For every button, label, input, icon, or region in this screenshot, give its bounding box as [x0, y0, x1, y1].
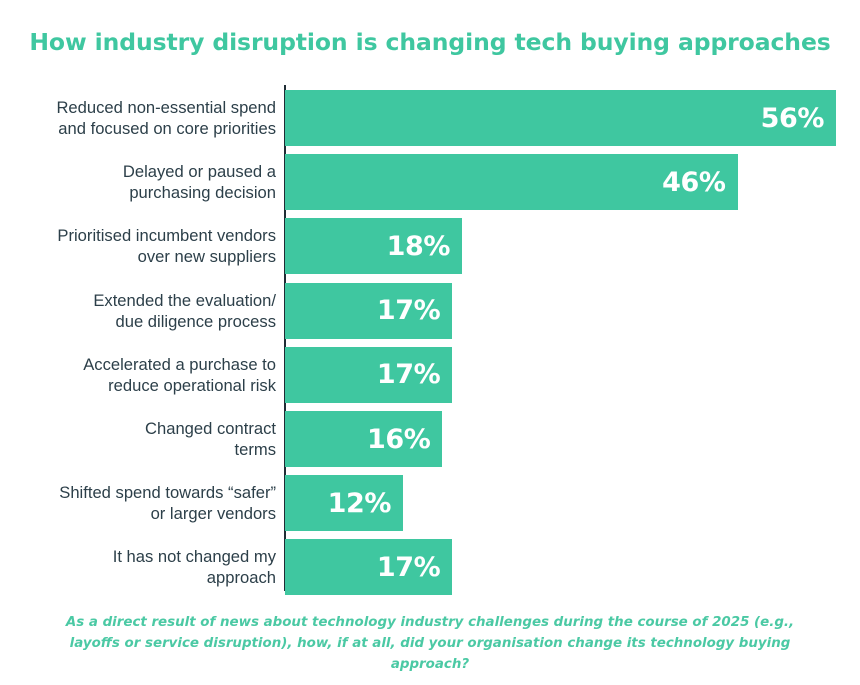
bar-track: 17%	[285, 283, 452, 339]
chart-annotation: As a direct result of news about technol…	[50, 612, 810, 675]
chart-figure: How industry disruption is changing tech…	[0, 0, 860, 685]
bar-track: 12%	[285, 475, 403, 531]
category-label: Changed contract terms	[18, 411, 276, 467]
category-label: It has not changed my approach	[18, 539, 276, 595]
bar-row: Delayed or paused a purchasing decision4…	[0, 154, 860, 210]
bar-track: 46%	[285, 154, 738, 210]
bar-row: Shifted spend towards “safer” or larger …	[0, 475, 860, 531]
bar-track: 56%	[285, 90, 836, 146]
chart-title: How industry disruption is changing tech…	[0, 28, 860, 56]
bar-value-label: 46%	[662, 154, 725, 210]
bar-track: 17%	[285, 539, 452, 595]
bar-track: 18%	[285, 218, 462, 274]
bar-value-label: 18%	[387, 218, 450, 274]
bar-value-label: 56%	[761, 90, 824, 146]
bar-track: 17%	[285, 347, 452, 403]
bar-value-label: 17%	[377, 539, 440, 595]
bar-row: It has not changed my approach17%	[0, 539, 860, 595]
bar-row: Reduced non-essential spend and focused …	[0, 90, 860, 146]
category-label: Reduced non-essential spend and focused …	[18, 90, 276, 146]
category-label: Extended the evaluation/ due diligence p…	[18, 283, 276, 339]
category-label: Accelerated a purchase to reduce operati…	[18, 347, 276, 403]
bar-value-label: 16%	[367, 411, 430, 467]
category-label: Delayed or paused a purchasing decision	[18, 154, 276, 210]
bar-value-label: 17%	[377, 347, 440, 403]
bar-value-label: 12%	[328, 475, 391, 531]
category-label: Shifted spend towards “safer” or larger …	[18, 475, 276, 531]
bar-value-label: 17%	[377, 283, 440, 339]
bar-track: 16%	[285, 411, 442, 467]
bar-row: Accelerated a purchase to reduce operati…	[0, 347, 860, 403]
category-label: Prioritised incumbent vendors over new s…	[18, 218, 276, 274]
bar[interactable]	[285, 90, 836, 146]
plot-area: Reduced non-essential spend and focused …	[0, 85, 860, 597]
bar-row: Changed contract terms16%	[0, 411, 860, 467]
bar-row: Extended the evaluation/ due diligence p…	[0, 283, 860, 339]
bar-row: Prioritised incumbent vendors over new s…	[0, 218, 860, 274]
